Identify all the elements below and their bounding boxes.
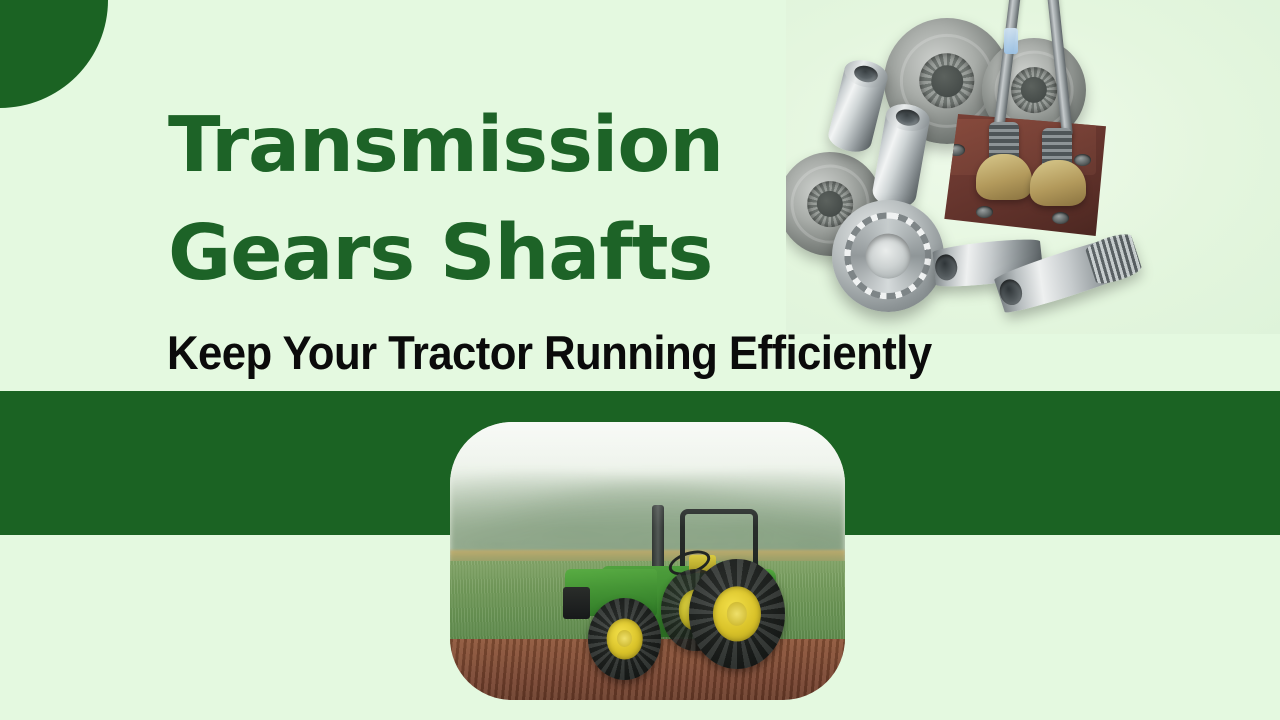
wheel-hub	[713, 586, 761, 641]
gear-splined-hub	[1011, 67, 1057, 113]
shaft-bore	[934, 253, 959, 281]
tractor-grille	[563, 587, 590, 619]
lever-boot	[976, 154, 1032, 200]
housing-bolt-hole	[1052, 212, 1069, 224]
title-line-2: Gears Shafts	[168, 200, 808, 308]
wheel-hub	[606, 618, 643, 659]
housing-bolt-hole	[976, 206, 993, 218]
tractor-image-card	[450, 422, 845, 700]
corner-decoration-blob	[0, 0, 108, 108]
poster-canvas: Transmission Gears Shafts Keep Your Trac…	[0, 0, 1280, 720]
transmission-parts-image	[786, 0, 1280, 334]
tractor-wheel-rear	[689, 559, 785, 669]
page-title: Transmission Gears Shafts	[168, 92, 808, 308]
tractor-illustration	[561, 505, 790, 683]
lever-boot-2	[1030, 160, 1086, 206]
ball-bearing	[832, 200, 944, 312]
title-line-1: Transmission	[168, 92, 808, 200]
bearing-inner-bore	[866, 234, 911, 279]
tractor-wheel-front	[588, 598, 661, 680]
lever-tape-marker	[1004, 28, 1018, 54]
housing-bolt-hole	[1074, 154, 1091, 166]
tractor-exhaust-stack	[652, 505, 663, 573]
